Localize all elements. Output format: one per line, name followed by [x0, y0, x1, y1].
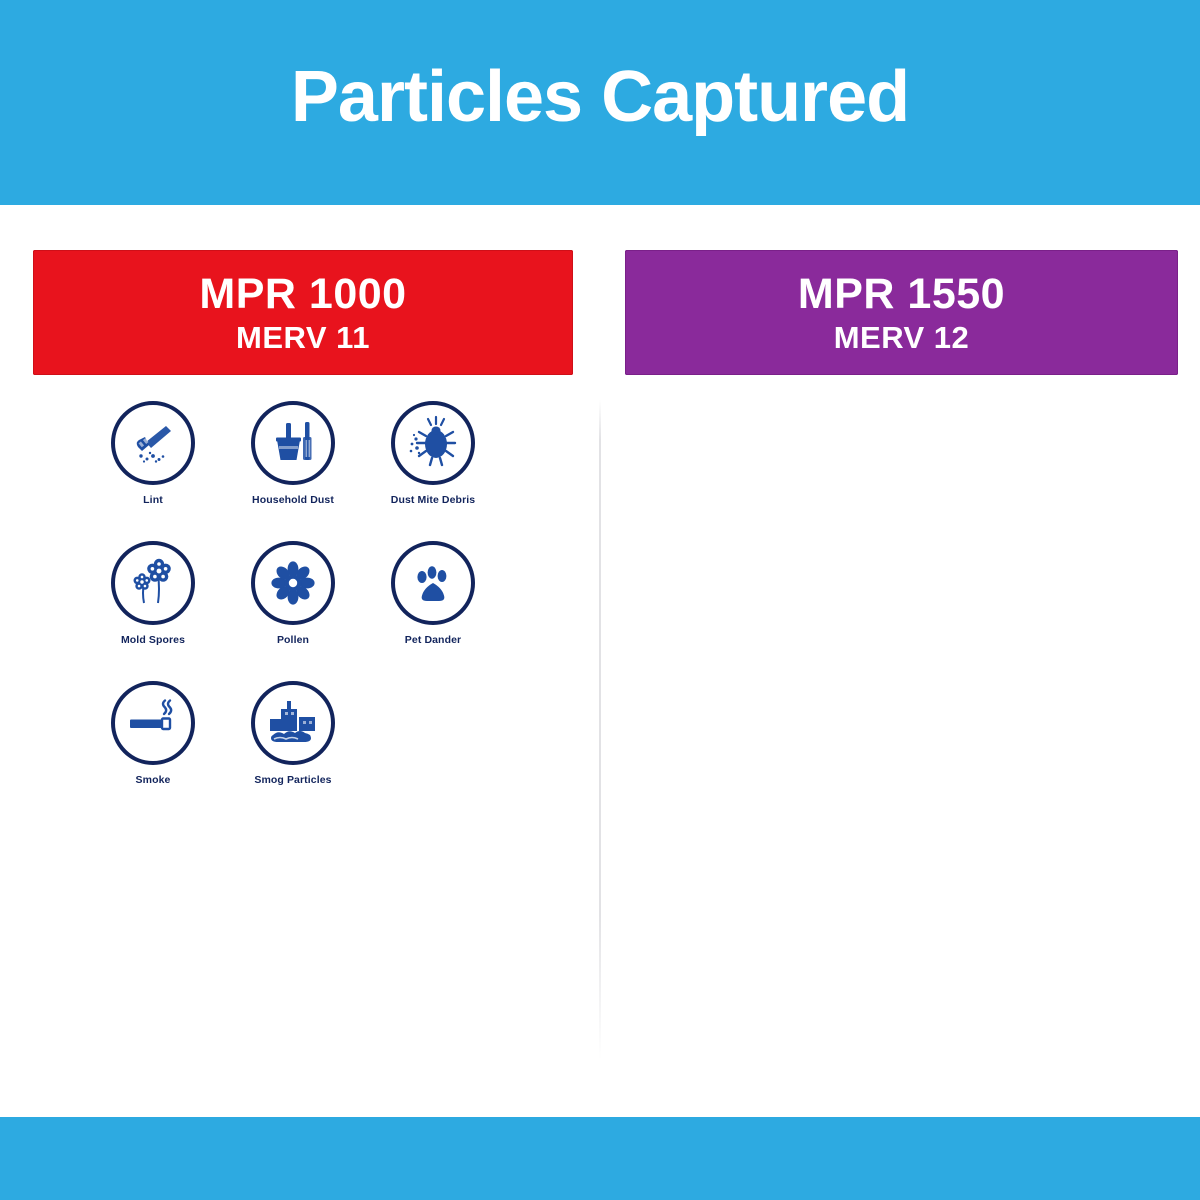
pet-dander-icon — [391, 541, 475, 625]
column-mpr-1000: MPR 1000 MERV 11 Lint — [0, 205, 600, 1117]
smog-icon — [251, 681, 335, 765]
particle-label: Dust Mite Debris — [391, 494, 475, 506]
particle-item: Smog Particles — [223, 681, 363, 821]
particle-item: Household Dust — [223, 401, 363, 541]
particle-item: Pollen — [223, 541, 363, 681]
particle-item: Lint — [83, 401, 223, 541]
pollen-icon — [251, 541, 335, 625]
particle-item: Mold Spores — [83, 541, 223, 681]
comparison-panels: MPR 1000 MERV 11 Lint — [0, 205, 1200, 1117]
particle-label: Mold Spores — [121, 634, 185, 646]
particle-label: Household Dust — [252, 494, 334, 506]
mpr-rating-label: MPR 1000 — [33, 272, 573, 317]
column-divider — [599, 400, 601, 1060]
mold-spores-icon — [111, 541, 195, 625]
particle-label: Smog Particles — [254, 774, 331, 786]
lint-icon — [111, 401, 195, 485]
smoke-icon — [111, 681, 195, 765]
household-dust-icon — [251, 401, 335, 485]
dust-mite-icon — [391, 401, 475, 485]
merv-rating-label: MERV 11 — [33, 319, 573, 358]
particle-item: Pet Dander — [363, 541, 503, 681]
particle-item: Dust Mite Debris — [363, 401, 503, 541]
particle-item: Smoke — [83, 681, 223, 821]
particle-label: Smoke — [136, 774, 171, 786]
particle-label: Lint — [143, 494, 163, 506]
merv-rating-label: MERV 12 — [625, 319, 1178, 358]
particle-label: Pet Dander — [405, 634, 461, 646]
particle-grid-mpr-1000: Lint Household Dust Dust Mite — [83, 401, 503, 821]
column-mpr-1550: MPR 1550 MERV 12 Lint — [600, 205, 1200, 1117]
mpr-rating-label: MPR 1550 — [625, 272, 1178, 317]
grade-banner-mpr-1000: MPR 1000 MERV 11 — [33, 250, 573, 375]
particle-label: Pollen — [277, 634, 309, 646]
particles-captured-infographic: Particles Captured MPR 1000 MERV 11 Lint — [0, 0, 1200, 1200]
footer-band — [0, 1117, 1200, 1200]
grade-banner-mpr-1550: MPR 1550 MERV 12 — [625, 250, 1178, 375]
page-title: Particles Captured — [0, 60, 1200, 136]
